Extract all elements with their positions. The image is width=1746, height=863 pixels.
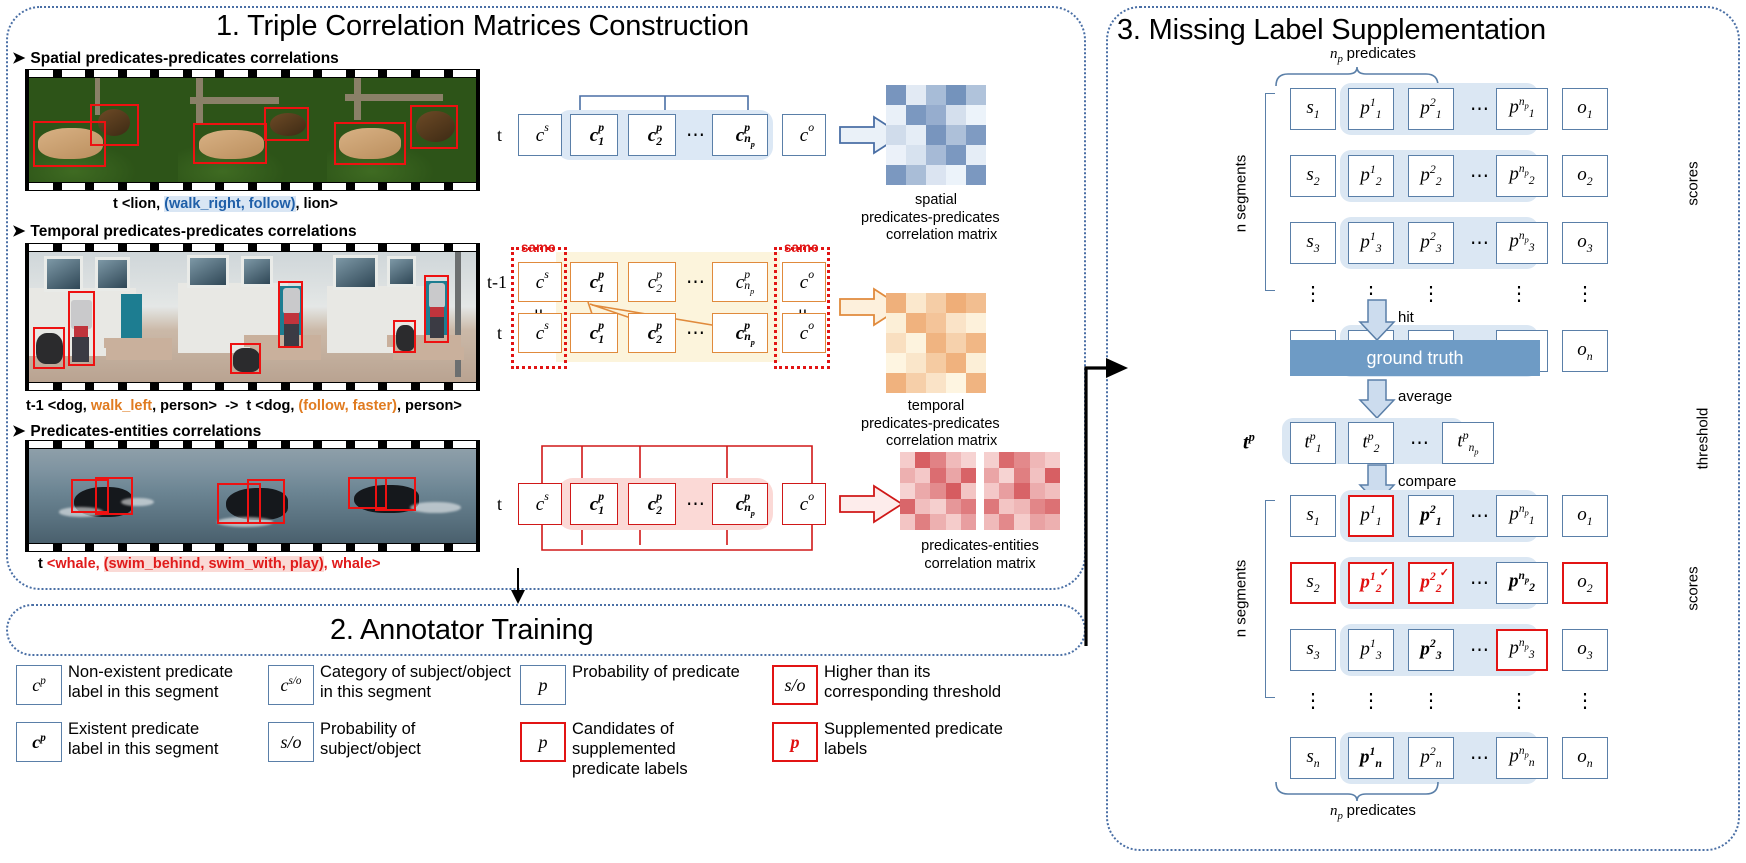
matrix-entities-subject	[900, 452, 976, 530]
cell-cp2-entities: cp2	[628, 483, 676, 525]
film-frame	[178, 449, 327, 543]
film-frame	[327, 252, 476, 382]
cell-cs-tminus1: cs	[518, 262, 562, 302]
legend-symbol: cp	[32, 732, 46, 753]
cell-cs: cs	[518, 114, 562, 156]
matrix-cell	[906, 373, 926, 393]
legend-symbol-box: s/o	[772, 665, 818, 705]
matrix-cell	[946, 483, 961, 499]
cell-predicate-score: p23	[1408, 222, 1454, 264]
cell-cpnp-entities: cpnp	[712, 483, 768, 525]
matrix-cell	[900, 514, 915, 530]
matrix-cell	[926, 125, 946, 145]
matrix-caption-spatial: spatial predicates-predicates correlatio…	[886, 192, 986, 245]
film-perforations-top	[29, 70, 476, 77]
bounding-box	[230, 343, 261, 374]
row-label-t-entities: t	[497, 494, 502, 515]
matrix-cell	[961, 468, 976, 484]
legend-line: Supplemented predicate	[824, 720, 1054, 740]
cell-symbol: p11	[1360, 503, 1381, 529]
label-compare: compare	[1398, 473, 1456, 490]
cell-predicate-score: p22	[1408, 155, 1454, 197]
cell-cp1-t: cp1	[570, 313, 618, 353]
cell-predicate-score: p11	[1348, 88, 1394, 130]
cell-symbol: pnp1	[1509, 96, 1534, 121]
cell-symbol: o3	[1577, 231, 1592, 256]
matrix-cell	[886, 125, 906, 145]
film-frame	[178, 252, 327, 382]
ellipsis: ⋯	[1470, 165, 1491, 188]
matrix-caption-temporal: temporal predicates-predicates correlati…	[886, 398, 986, 451]
cell-predicate-score: pnp3	[1496, 629, 1548, 671]
matrix-cell	[926, 333, 946, 353]
cell-symbol: s1	[1306, 504, 1319, 529]
film-frame	[178, 78, 327, 182]
legend-description: Probability of predicate	[572, 663, 782, 683]
matrix-cell	[900, 468, 915, 484]
matrix-cell	[946, 293, 966, 313]
film-frame	[29, 78, 178, 182]
video-filmstrip-dog	[25, 243, 480, 391]
panel2-title: 2. Annotator Training	[330, 614, 593, 647]
cell-symbol: s3	[1306, 231, 1319, 256]
cell-co-entities: co	[782, 483, 826, 525]
cell-object-score: o2	[1562, 155, 1608, 197]
cell-symbol: p23	[1420, 637, 1441, 663]
matrix-cell	[984, 514, 999, 530]
matrix-cell	[926, 165, 946, 185]
connector-training-to-supplementation	[1000, 180, 1130, 650]
heading-temporal: ➤Temporal predicates-predicates correlat…	[12, 221, 357, 241]
cell-subject-score: s2	[1290, 155, 1336, 197]
cell-symbol: p12	[1360, 570, 1381, 596]
matrix-cell	[961, 452, 976, 468]
legend-description: Existent predicatelabel in this segment	[68, 720, 258, 760]
ellipsis: ⋯	[1410, 432, 1431, 455]
legend-description: Higher than itscorresponding threshold	[824, 663, 1054, 703]
ellipsis: ⋯	[1470, 639, 1491, 662]
matrix-cell	[946, 373, 966, 393]
label-hit: hit	[1398, 309, 1414, 326]
matrix-cell	[906, 293, 926, 313]
legend-line: Non-existent predicate	[68, 663, 258, 683]
cell-predicate-score: p12✓	[1348, 562, 1394, 604]
bounding-box	[393, 320, 417, 354]
vertical-ellipsis: ⋮	[1290, 288, 1336, 300]
film-perforations-top	[29, 244, 476, 251]
legend-symbol: p	[539, 675, 548, 696]
matrix-cell	[966, 125, 986, 145]
legend-line: Probability of predicate	[572, 663, 782, 683]
matrix-cell	[886, 105, 906, 125]
cell-cp2-t: cp2	[628, 313, 676, 353]
cell-predicate-score: p13	[1348, 629, 1394, 671]
cell-predicate-score: p23	[1408, 629, 1454, 671]
cell-object-score: o1	[1562, 495, 1608, 537]
cell-predicate-score: p1n	[1348, 737, 1394, 779]
film-frame	[327, 78, 476, 182]
matrix-cell	[886, 145, 906, 165]
matrix-cell	[926, 313, 946, 333]
legend-line: labels	[824, 740, 1054, 760]
matrix-cell	[984, 452, 999, 468]
cell-symbol: on	[1577, 339, 1592, 364]
matrix-cell	[930, 499, 945, 515]
cell-symbol: pnp3	[1509, 637, 1534, 662]
matrix-cell	[900, 499, 915, 515]
cell-symbol: o1	[1577, 504, 1592, 529]
legend-symbol-box: cp	[16, 722, 62, 762]
cell-symbol: tp1	[1304, 430, 1321, 456]
cell-subject-score: s3	[1290, 222, 1336, 264]
bounding-box	[410, 105, 458, 149]
cell-predicate-score: p21	[1408, 495, 1454, 537]
matrix-cell	[906, 165, 926, 185]
film-perforations-bottom	[29, 183, 476, 190]
film-perforations-top	[29, 441, 476, 448]
ellipsis: ⋯	[686, 124, 707, 147]
legend-line: Probability of	[320, 720, 520, 740]
cell-object-score: on	[1562, 737, 1608, 779]
panel3-title: 3. Missing Label Supplementation	[1117, 14, 1546, 47]
cell-subject-score: s1	[1290, 495, 1336, 537]
legend-description: Category of subject/objectin this segmen…	[320, 663, 520, 703]
matrix-cell	[961, 499, 976, 515]
matrix-cell	[900, 452, 915, 468]
cell-predicate-score: pnp2	[1496, 562, 1548, 604]
cell-subject-score: s1	[1290, 88, 1336, 130]
cell-object-score: o3	[1562, 222, 1608, 264]
cell-predicate-score: pnp3	[1496, 222, 1548, 264]
matrix-cell	[906, 313, 926, 333]
row-label-t: t	[497, 125, 502, 146]
matrix-cell	[915, 514, 930, 530]
matrix-cell	[886, 313, 906, 333]
matrix-cell	[946, 165, 966, 185]
cell-object-score: o2	[1562, 562, 1608, 604]
cell-predicate-score: pnp1	[1496, 88, 1548, 130]
block-arrow-entities	[838, 482, 906, 526]
matrix-cell	[886, 333, 906, 353]
label-n-segments-top: n segments	[1233, 139, 1250, 249]
cell-predicate-score: p22✓	[1408, 562, 1454, 604]
legend-symbol-box: p	[520, 665, 566, 705]
cell-symbol: s2	[1306, 164, 1319, 189]
cell-symbol: p1n	[1360, 745, 1382, 771]
cell-co: co	[782, 114, 826, 156]
film-perforations-bottom	[29, 544, 476, 551]
matrix-cell	[966, 353, 986, 373]
cell-symbol: p21	[1420, 503, 1441, 529]
legend-symbol: p	[791, 732, 800, 753]
matrix-cell	[886, 165, 906, 185]
legend-line: label in this segment	[68, 740, 258, 760]
matrix-cell	[930, 468, 945, 484]
cell-threshold: tp2	[1348, 422, 1394, 464]
matrix-cell	[966, 333, 986, 353]
cell-object-score: o1	[1562, 88, 1608, 130]
panel1-title: 1. Triple Correlation Matrices Construct…	[216, 10, 749, 43]
vertical-ellipsis: ⋮	[1408, 288, 1454, 300]
cell-object-score: on	[1562, 330, 1608, 372]
legend-line: Existent predicate	[68, 720, 258, 740]
matrix-cell	[886, 373, 906, 393]
matrix-cell	[926, 353, 946, 373]
matrix-cell	[946, 145, 966, 165]
ellipsis: ⋯	[686, 271, 707, 294]
matrix-cell	[926, 85, 946, 105]
matrix-cell	[946, 353, 966, 373]
matrix-cell	[930, 452, 945, 468]
legend-symbol: p	[539, 732, 548, 753]
matrix-cell	[961, 483, 976, 499]
film-perforations-bottom	[29, 383, 476, 390]
cell-symbol: p22	[1420, 163, 1441, 189]
caption-lion-triplet: t <lion, (walk_right, follow), lion>	[113, 196, 338, 212]
legend-symbol-box: cp	[16, 665, 62, 705]
vertical-ellipsis: ⋮	[1348, 695, 1394, 707]
bounding-box	[95, 477, 134, 515]
matrix-cell	[984, 483, 999, 499]
threshold-vector-label: tp	[1243, 430, 1255, 455]
matrix-cell	[966, 85, 986, 105]
arrow-bullet-icon: ➤	[12, 423, 25, 440]
bounding-box	[68, 291, 95, 366]
matrix-cell	[906, 353, 926, 373]
cell-threshold: tp1	[1290, 422, 1336, 464]
vertical-ellipsis: ⋮	[1562, 288, 1608, 300]
bounding-box	[193, 123, 268, 165]
legend-symbol-box: cs/o	[268, 665, 314, 705]
legend-symbol-box: s/o	[268, 722, 314, 762]
cell-co-t: co	[782, 313, 826, 353]
cell-symbol: p2n	[1420, 745, 1441, 771]
bounding-box	[264, 107, 309, 141]
heading-spatial: ➤Spatial predicates-predicates correlati…	[12, 48, 339, 68]
legend-line: corresponding threshold	[824, 683, 1054, 703]
legend-line: predicate labels	[572, 760, 782, 780]
legend-line: Category of subject/object	[320, 663, 520, 683]
cell-co-tminus1: co	[782, 262, 826, 302]
legend-symbol: cp	[32, 675, 46, 696]
bounding-box	[424, 275, 449, 343]
matrix-cell	[886, 293, 906, 313]
cell-predicate-score: p11	[1348, 495, 1394, 537]
matrix-cell	[966, 165, 986, 185]
video-filmstrip-whale	[25, 440, 480, 552]
check-icon: ✓	[1380, 566, 1389, 579]
heading-entities: ➤Predicates-entities correlations	[12, 421, 261, 441]
legend-description: Non-existent predicatelabel in this segm…	[68, 663, 258, 703]
cell-predicate-score: p13	[1348, 222, 1394, 264]
bracket-segments-top	[1265, 93, 1275, 291]
matrix-cell	[946, 514, 961, 530]
cell-symbol: p11	[1360, 96, 1381, 122]
cell-threshold: tpnp	[1442, 422, 1494, 464]
bounding-box	[278, 281, 303, 349]
cell-cp1-entities: cp1	[570, 483, 618, 525]
cell-predicate-score: pnp2	[1496, 155, 1548, 197]
cell-symbol: sn	[1306, 746, 1319, 771]
bounding-box	[90, 104, 139, 146]
ellipsis: ⋯	[1470, 232, 1491, 255]
legend-line: Candidates of supplemented	[572, 720, 782, 760]
ground-truth-label: ground truth	[1366, 348, 1463, 369]
legend-line: Higher than its	[824, 663, 1054, 683]
legend-symbol: s/o	[280, 732, 301, 753]
vertical-ellipsis: ⋮	[1496, 288, 1542, 300]
matrix-cell	[966, 373, 986, 393]
ellipsis: ⋯	[686, 322, 707, 345]
arrow-to-annotator-training-icon	[500, 566, 540, 606]
matrix-cell	[926, 105, 946, 125]
same-label-subject: same	[521, 240, 556, 255]
row-label-t-temporal: t	[497, 323, 502, 344]
matrix-cell	[946, 499, 961, 515]
cell-symbol: s1	[1306, 97, 1319, 122]
film-frames	[29, 449, 476, 543]
ellipsis: ⋯	[1470, 505, 1491, 528]
bounding-box	[334, 122, 406, 166]
cell-predicate-score: p2n	[1408, 737, 1454, 779]
label-n-segments-bottom: n segments	[1233, 544, 1250, 654]
check-icon: ✓	[1440, 566, 1449, 579]
cell-symbol: pnp2	[1509, 570, 1535, 595]
legend-line: subject/object	[320, 740, 520, 760]
ellipsis: ⋯	[1470, 572, 1491, 595]
caption-dog-triplet: t-1 <dog, walk_left, person> -> t <dog, …	[26, 398, 462, 414]
label-scores-top: scores	[1685, 139, 1702, 229]
cell-symbol: p13	[1360, 230, 1381, 256]
cell-object-score: o3	[1562, 629, 1608, 671]
matrix-temporal	[886, 293, 986, 393]
cell-predicate-score: pnp1	[1496, 495, 1548, 537]
matrix-cell	[906, 125, 926, 145]
ellipsis: ⋯	[1470, 98, 1491, 121]
cell-symbol: s3	[1306, 638, 1319, 663]
cell-symbol: p12	[1360, 163, 1381, 189]
cell-cs-t: cs	[518, 313, 562, 353]
matrix-cell	[906, 85, 926, 105]
same-label-object: same	[784, 240, 819, 255]
brace-bottom-icon	[1272, 780, 1442, 802]
cell-symbol: o2	[1577, 571, 1592, 596]
vertical-ellipsis: ⋮	[1290, 695, 1336, 707]
cell-symbol: p22	[1420, 570, 1441, 596]
legend-description: Supplemented predicatelabels	[824, 720, 1054, 760]
matrix-cell	[946, 468, 961, 484]
matrix-cell	[984, 468, 999, 484]
matrix-cell	[915, 468, 930, 484]
cell-cp-1: cp1	[570, 114, 618, 156]
cell-symbol: pnp2	[1509, 163, 1534, 188]
bounding-box	[375, 477, 417, 511]
matrix-cell	[915, 499, 930, 515]
video-filmstrip-lion	[25, 69, 480, 191]
matrix-cell	[984, 499, 999, 515]
cell-predicate-score: p12	[1348, 155, 1394, 197]
brace-label-bottom: np predicates	[1330, 802, 1416, 822]
matrix-spatial	[886, 85, 986, 185]
cell-symbol: tp2	[1362, 430, 1379, 456]
matrix-cell	[926, 145, 946, 165]
ellipsis: ⋯	[1470, 747, 1491, 770]
matrix-cell	[886, 85, 906, 105]
matrix-cell	[946, 313, 966, 333]
cell-predicate-score: pnpn	[1496, 737, 1548, 779]
matrix-cell	[906, 145, 926, 165]
matrix-cell	[886, 353, 906, 373]
legend-symbol-box: p	[520, 722, 566, 762]
arrow-bullet-icon: ➤	[12, 223, 25, 240]
vertical-ellipsis: ⋮	[1496, 695, 1542, 707]
legend-description: Probability ofsubject/object	[320, 720, 520, 760]
matrix-cell	[946, 452, 961, 468]
matrix-cell	[906, 105, 926, 125]
matrix-cell	[966, 105, 986, 125]
ground-truth-bar: ground truth	[1290, 340, 1540, 376]
matrix-cell	[961, 514, 976, 530]
legend-line: in this segment	[320, 683, 520, 703]
cell-symbol: o3	[1577, 638, 1592, 663]
cell-subject-score: s3	[1290, 629, 1336, 671]
label-average: average	[1398, 388, 1452, 405]
matrix-cell	[946, 125, 966, 145]
cell-subject-score: sn	[1290, 737, 1336, 779]
bounding-box	[33, 327, 64, 369]
legend-symbol: s/o	[784, 675, 805, 696]
bracket-segments-bottom	[1265, 500, 1275, 698]
matrix-cell	[906, 333, 926, 353]
matrix-cell	[930, 514, 945, 530]
legend-symbol-box: p	[772, 722, 818, 762]
legend-line: label in this segment	[68, 683, 258, 703]
film-frame	[29, 252, 178, 382]
cell-symbol: on	[1577, 746, 1592, 771]
label-threshold: threshold	[1695, 384, 1712, 494]
matrix-cell	[900, 483, 915, 499]
vertical-ellipsis: ⋮	[1562, 695, 1608, 707]
matrix-cell	[915, 452, 930, 468]
cell-symbol: p13	[1360, 637, 1381, 663]
brace-label-top: np predicates	[1330, 45, 1416, 65]
cell-symbol: tpnp	[1457, 429, 1478, 456]
cell-symbol: s2	[1306, 571, 1319, 596]
cell-symbol: o1	[1577, 97, 1592, 122]
caption-whale-triplet: t <whale, (swim_behind, swim_with, play)…	[38, 556, 381, 572]
legend-symbol: cs/o	[280, 675, 301, 696]
cell-cs-entities: cs	[518, 483, 562, 525]
row-label-t-minus-1: t-1	[487, 272, 507, 293]
matrix-cell	[926, 373, 946, 393]
matrix-cell	[946, 333, 966, 353]
cell-symbol: pnp1	[1509, 503, 1534, 528]
legend-description: Candidates of supplementedpredicate labe…	[572, 720, 782, 779]
matrix-cell	[930, 483, 945, 499]
cell-subject-score: s2	[1290, 562, 1336, 604]
arrow-bullet-icon: ➤	[12, 50, 25, 67]
matrix-cell	[946, 105, 966, 125]
matrix-cell	[966, 145, 986, 165]
bounding-box	[247, 479, 286, 524]
cell-predicate-score: p21	[1408, 88, 1454, 130]
cell-symbol: pnpn	[1509, 745, 1534, 770]
matrix-cell	[946, 85, 966, 105]
matrix-cell	[915, 483, 930, 499]
cell-symbol: o2	[1577, 164, 1592, 189]
film-frame	[327, 449, 476, 543]
film-frames	[29, 78, 476, 182]
